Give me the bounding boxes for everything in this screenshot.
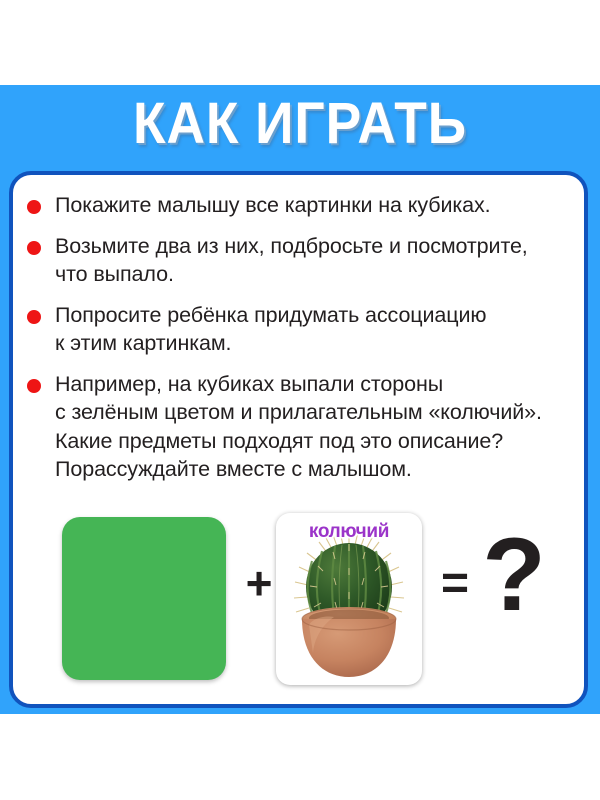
poster-root: КАК ИГРАТЬ Покажите малышу все картинки … [0, 0, 600, 800]
word-picture-card: колючий [276, 513, 422, 685]
page-title: КАК ИГРАТЬ [24, 93, 576, 155]
cactus-icon [276, 529, 422, 681]
bullet-dot-icon [27, 379, 41, 393]
bullet-dot-icon [27, 310, 41, 324]
plus-icon: + [241, 560, 277, 606]
list-item: Возьмите два из них, подбросьте и посмот… [27, 232, 577, 289]
list-item: Например, на кубиках выпали стороны с зе… [27, 370, 577, 484]
equals-icon: = [435, 563, 475, 605]
example-equation: + колючий [13, 505, 584, 700]
list-item-text: Например, на кубиках выпали стороны с зе… [55, 370, 577, 484]
word-card-label: колючий [276, 521, 422, 543]
instructions-list: Покажите малышу все картинки на кубиках.… [27, 191, 577, 496]
question-mark-icon: ? [479, 523, 549, 627]
green-color-tile [62, 517, 226, 680]
list-item: Попросите ребёнка придумать ассоциацию к… [27, 301, 577, 358]
instructions-card: Покажите малышу все картинки на кубиках.… [9, 171, 588, 708]
list-item-text: Возьмите два из них, подбросьте и посмот… [55, 232, 577, 289]
list-item: Покажите малышу все картинки на кубиках. [27, 191, 577, 220]
bullet-dot-icon [27, 200, 41, 214]
bullet-dot-icon [27, 241, 41, 255]
list-item-text: Покажите малышу все картинки на кубиках. [55, 191, 577, 220]
list-item-text: Попросите ребёнка придумать ассоциацию к… [55, 301, 577, 358]
